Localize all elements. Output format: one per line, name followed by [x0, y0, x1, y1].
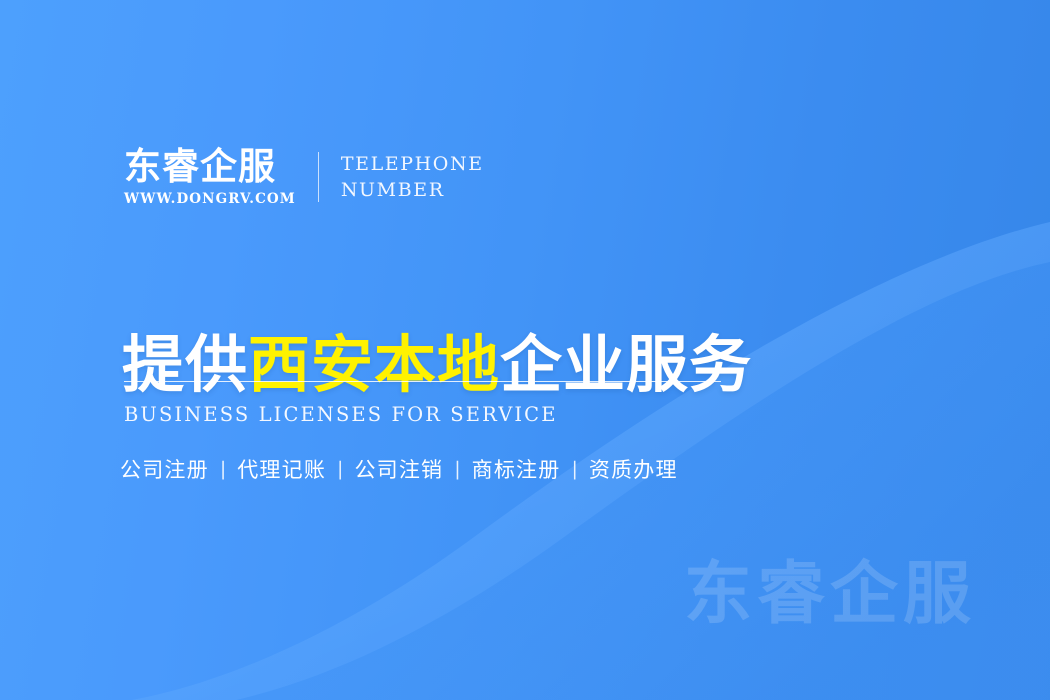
service-separator-1: |	[326, 458, 354, 480]
telephone-label-line2: NUMBER	[341, 177, 484, 203]
vertical-divider	[318, 152, 319, 202]
service-separator-2: |	[443, 458, 471, 480]
service-item-1[interactable]: 代理记账	[237, 454, 326, 484]
page-title: 提供西安本地企业服务	[122, 334, 752, 396]
service-item-4[interactable]: 资质办理	[589, 454, 678, 484]
service-separator-0: |	[209, 458, 237, 480]
service-item-3[interactable]: 商标注册	[472, 454, 561, 484]
logo-lockup: 东睿企服 WWW.DONGRV.COM TELEPHONE NUMBER	[124, 148, 484, 207]
telephone-label: TELEPHONE NUMBER	[341, 148, 484, 203]
headline-divider-rule	[124, 381, 721, 382]
brand-name-cn: 东睿企服	[124, 148, 276, 186]
brand-website-url: WWW.DONGRV.COM	[124, 191, 296, 207]
service-item-2[interactable]: 公司注销	[354, 454, 443, 484]
service-list: 公司注册 | 代理记账 | 公司注销 | 商标注册 | 资质办理	[120, 454, 678, 484]
headline-accent: 西安本地	[248, 328, 500, 401]
telephone-label-line1: TELEPHONE	[341, 151, 484, 177]
headline-prefix: 提供	[122, 328, 248, 401]
service-separator-3: |	[560, 458, 588, 480]
promo-banner: 东睿企服 WWW.DONGRV.COM TELEPHONE NUMBER 提供西…	[0, 0, 1050, 700]
headline-suffix: 企业服务	[500, 328, 752, 401]
brand-watermark: 东睿企服	[684, 560, 976, 628]
subtitle-english: BUSINESS LICENSES FOR SERVICE	[124, 403, 558, 426]
brand-logo[interactable]: 东睿企服 WWW.DONGRV.COM	[124, 148, 296, 207]
service-item-0[interactable]: 公司注册	[120, 454, 209, 484]
